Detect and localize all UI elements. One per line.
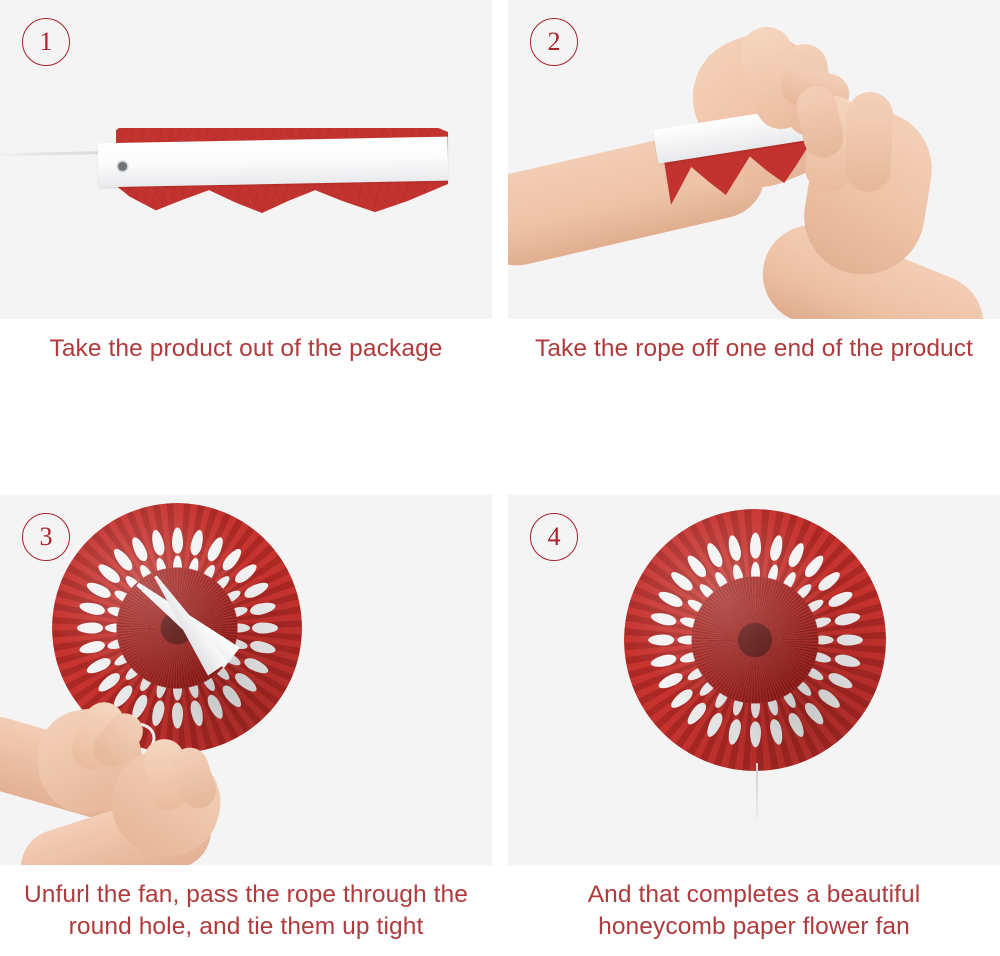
caption-line: And that completes a beautiful [588, 879, 921, 911]
step-card-1: 1 Take the product out of the package [0, 0, 492, 365]
step-card-3: 3 Unfurl the fan, pass the rope through … [0, 495, 492, 956]
caption-line: Unfurl the fan, pass the rope through th… [24, 879, 468, 911]
instruction-sheet: 1 Take the product out of the package [0, 0, 1000, 956]
step-badge-1: 1 [22, 18, 70, 66]
step-badge-4: 4 [530, 513, 578, 561]
step-photo-3: 3 [0, 495, 492, 865]
right-middle-finger [844, 91, 893, 193]
caption-line: Take the rope off one end of the product [535, 333, 973, 365]
step-badge-2: 2 [530, 18, 578, 66]
fan-center-hub [624, 509, 886, 771]
rope-eyelet [118, 162, 127, 171]
caption-line: round hole, and tie them up tight [24, 911, 468, 943]
caption-line: Take the product out of the package [49, 333, 442, 365]
step-caption-4: And that completes a beautiful honeycomb… [508, 865, 1000, 956]
caption-line: honeycomb paper flower fan [588, 911, 921, 943]
step-caption-2: Take the rope off one end of the product [508, 319, 1000, 365]
step-card-2: 2 Take the rope off one end of the produ… [508, 0, 1000, 365]
hanging-thread [756, 763, 758, 819]
finished-paper-fan [624, 509, 886, 771]
step-photo-1: 1 [0, 0, 492, 319]
white-card-strip [98, 137, 449, 188]
step-caption-1: Take the product out of the package [0, 319, 492, 365]
step-photo-2: 2 [508, 0, 1000, 319]
step-caption-3: Unfurl the fan, pass the rope through th… [0, 865, 492, 956]
step-badge-3: 3 [22, 513, 70, 561]
step-card-4: 4 And that completes a beautiful honeyco… [508, 495, 1000, 956]
folded-fan-bundle [98, 88, 448, 228]
step-photo-4: 4 [508, 495, 1000, 865]
